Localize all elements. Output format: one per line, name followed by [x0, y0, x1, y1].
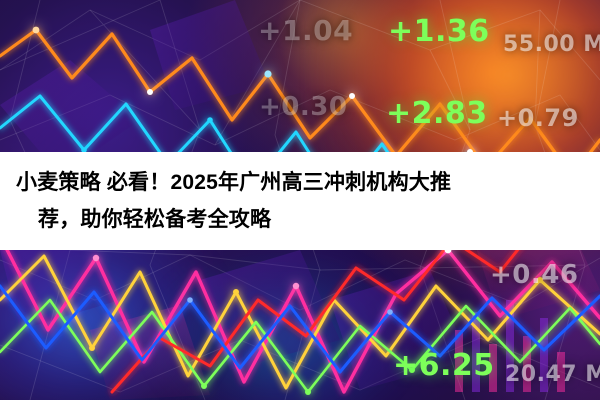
screenshot-canvas: +1.04 +0.30 +1.36 +2.83 +6.25 55.00 M +0… [0, 0, 600, 400]
quote-label-2: +0.30 [259, 92, 347, 122]
headline-text: 小麦策略 必看！2025年广州高三冲刺机构大推 荐，助你轻松备考全攻略 [0, 164, 465, 238]
quote-label-3: +1.36 [388, 14, 490, 49]
brand-label: 小麦策略 [16, 171, 101, 194]
title-band: 小麦策略 必看！2025年广州高三冲刺机构大推 荐，助你轻松备考全攻略 [0, 152, 600, 250]
headline-line-2: 荐，助你轻松备考全攻略 [38, 208, 271, 231]
quote-label-1: +1.04 [258, 14, 353, 47]
quote-label-6: 55.00 M [503, 32, 600, 57]
quote-label-4: +2.83 [386, 96, 488, 131]
quote-label-5: +6.25 [393, 348, 495, 383]
quote-label-9: +0.46 [490, 260, 578, 290]
quote-label-10: 20.47 M [505, 362, 600, 387]
quote-label-7: +0.79 [497, 104, 579, 132]
headline-line-1: 必看！2025年广州高三冲刺机构大推 [107, 171, 451, 194]
